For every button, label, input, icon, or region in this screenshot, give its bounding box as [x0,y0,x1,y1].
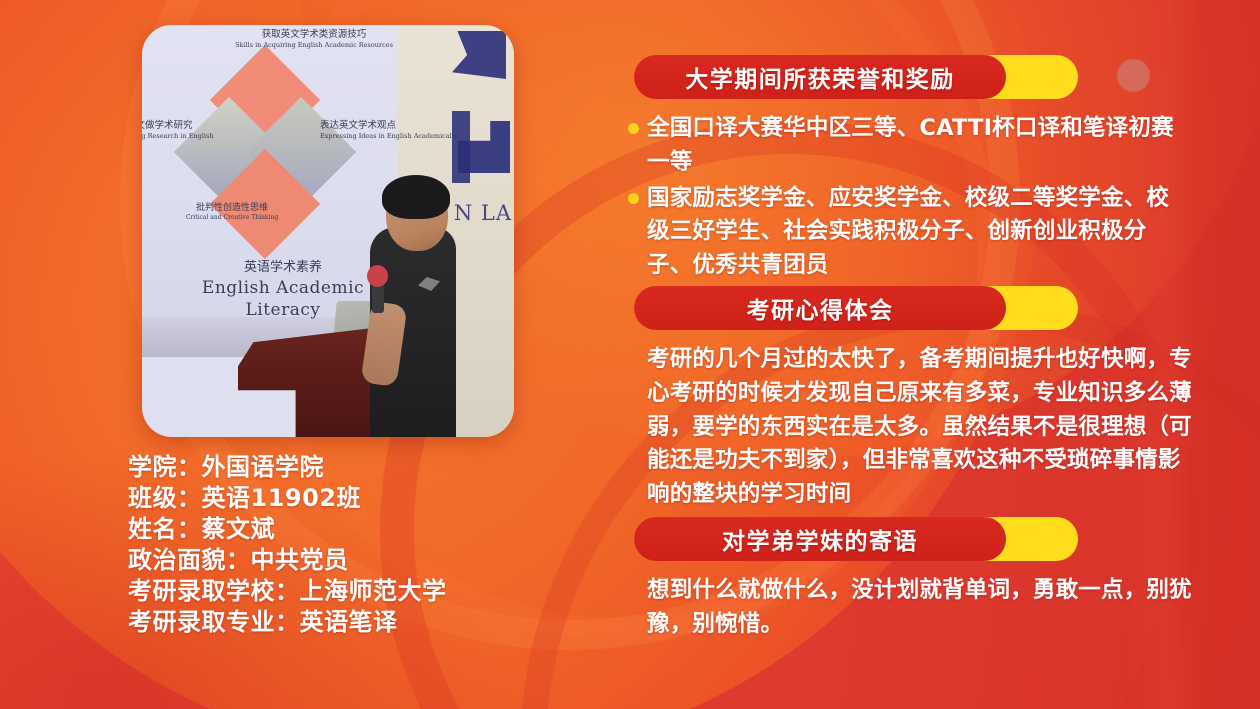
student-photo: N LA 获取英文学术类资源技巧 Skills in Acquiring Eng… [142,25,514,437]
slide-label-top-cn: 获取英文学术类资源技巧 [262,29,367,40]
wall-text: N LA [454,201,512,225]
poster-root: N LA 获取英文学术类资源技巧 Skills in Acquiring Eng… [0,0,1260,709]
microphone-head-icon [367,265,388,287]
slide-label-right: 表达英文学术观点 Expressing Ideas in English Aca… [320,120,480,140]
badge-red-pill-message: 对学弟学妹的寄语 [634,517,1006,561]
section-badge-honors: 大学期间所获荣誉和奖励 [634,55,1078,99]
section-title-honors: 大学期间所获荣誉和奖励 [685,60,955,94]
slide-label-left: 英文做学术研究 Doing Research in English [142,120,256,140]
section-title-experience: 考研心得体会 [747,291,894,325]
slide-label-left-cn: 英文做学术研究 [142,120,193,131]
list-item: 全国口译大赛华中区三等、CATTI杯口译和笔译初赛一等 [628,112,1188,180]
slide-label-left-en: Doing Research in English [142,132,256,140]
section-badge-message: 对学弟学妹的寄语 [634,517,1078,561]
honors-list: 全国口译大赛华中区三等、CATTI杯口译和笔译初赛一等 国家励志奖学金、应安奖学… [628,112,1188,285]
section-badge-experience: 考研心得体会 [634,286,1078,330]
experience-paragraph: 考研的几个月过的太快了，备考期间提升也好快啊，专心考研的时候才发现自己原来有多菜… [647,343,1195,512]
photo-content: N LA 获取英文学术类资源技巧 Skills in Acquiring Eng… [142,25,514,437]
info-line-political-status: 政治面貌：中共党员 [128,545,598,576]
info-line-admitted-school: 考研录取学校：上海师范大学 [128,576,598,607]
honors-item-2: 国家励志奖学金、应安奖学金、校级二等奖学金、校级三好学生、社会实践积极分子、创新… [647,182,1188,283]
slide-label-bottom-left-cn: 批判性创造性思维 [196,203,268,213]
info-line-admitted-major: 考研录取专业：英语笔译 [128,607,598,638]
section-title-message: 对学弟学妹的寄语 [722,522,918,556]
bullet-dot-icon [628,193,639,204]
slide-label-top: 获取英文学术类资源技巧 Skills in Acquiring English … [224,29,404,49]
slide-label-right-en: Expressing Ideas in English Academically [320,132,480,140]
info-line-college: 学院：外国语学院 [128,452,598,483]
badge-red-pill-experience: 考研心得体会 [634,286,1006,330]
slide-label-right-cn: 表达英文学术观点 [320,120,396,131]
message-paragraph: 想到什么就做什么，没计划就背单词，勇敢一点，别犹豫，别惋惜。 [647,574,1195,642]
list-item: 国家励志奖学金、应安奖学金、校级二等奖学金、校级三好学生、社会实践积极分子、创新… [628,182,1188,283]
slide-label-bottom-left-en: Critical and Creative Thinking [172,214,292,222]
slide-label-top-en: Skills in Acquiring English Academic Res… [224,41,404,49]
bullet-dot-icon [628,123,639,134]
slide-title-cn: 英语学术素养 [244,260,322,275]
honors-item-1: 全国口译大赛华中区三等、CATTI杯口译和笔译初赛一等 [647,112,1188,180]
microphone-body-icon [372,283,384,313]
student-info-block: 学院：外国语学院 班级：英语11902班 姓名：蔡文斌 政治面貌：中共党员 考研… [128,452,598,638]
wall-logo-glyph-top-icon [452,31,506,79]
presenter-hair [382,175,450,219]
info-line-name: 姓名：蔡文斌 [128,514,598,545]
slide-label-bottom-left: 批判性创造性思维 Critical and Creative Thinking [172,203,292,222]
right-content-column: 大学期间所获荣誉和奖励 全国口译大赛华中区三等、CATTI杯口译和笔译初赛一等 … [620,0,1220,709]
info-line-class: 班级：英语11902班 [128,483,598,514]
badge-red-pill-honors: 大学期间所获荣誉和奖励 [634,55,1006,99]
